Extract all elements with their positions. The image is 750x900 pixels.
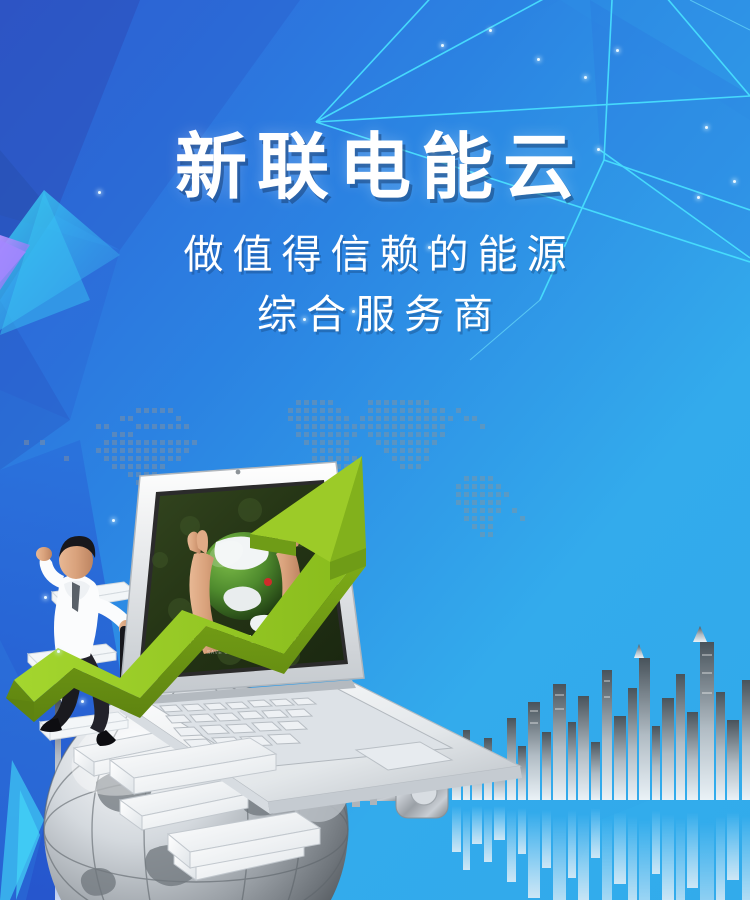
artwork-composite: SAVING WORLD SAVE OUR GREEN PLANET xyxy=(0,430,750,900)
poster-canvas: 新联电能云 做值得信赖的能源 综合服务商 xyxy=(0,0,750,900)
